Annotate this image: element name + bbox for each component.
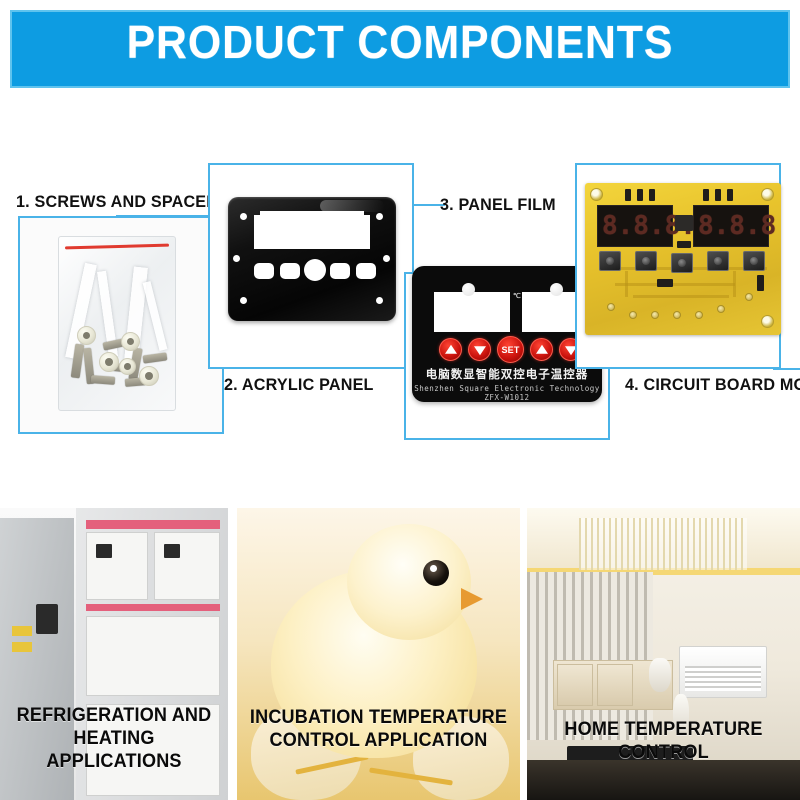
header-pin	[649, 189, 655, 201]
chick-beak	[461, 588, 483, 610]
solder-pad	[745, 293, 753, 301]
panel-film-photo: ℃ ℃ SET 电脑数显智能双控电子温控器 Shenzhen Square El…	[412, 266, 602, 402]
solder-pad	[673, 311, 681, 319]
component-label-circuit-board-module: 4. CIRCUIT BOARD MODULE	[625, 375, 800, 395]
header-pin	[715, 189, 721, 201]
page-title: PRODUCT COMPONENTS	[127, 18, 674, 66]
screw-hole-2	[376, 213, 383, 220]
air-conditioner	[679, 646, 767, 698]
header-pin	[637, 189, 643, 201]
header-banner: PRODUCT COMPONENTS	[10, 10, 790, 88]
application-photo-home: HOME TEMPERATURE CONTROL	[527, 508, 800, 800]
component-label-panel-film: 3. PANEL FILM	[440, 195, 556, 215]
pcb-trace	[615, 283, 735, 286]
up-arrow-button-right[interactable]	[530, 338, 553, 361]
solder-pad	[629, 311, 637, 319]
brand-text-english: Shenzhen Square Electronic Technology ZF…	[412, 384, 602, 402]
mount-hole-2	[761, 188, 774, 201]
acrylic-panel-photo	[228, 197, 396, 321]
components-diagram: 1. SCREWS AND SPACERS 2. ACRYLIC PANEL	[0, 92, 800, 492]
header-pin	[727, 189, 733, 201]
button-cutout-2	[280, 263, 300, 279]
display-cutout-notch	[260, 211, 364, 217]
button-cutout-1	[254, 263, 274, 279]
application-caption-incubation: INCUBATION TEMPERATURE CONTROL APPLICATI…	[244, 706, 513, 752]
tactile-button-4[interactable]	[707, 251, 729, 271]
resistor	[657, 279, 673, 287]
pcb-trace	[625, 271, 628, 297]
ic-chip	[675, 215, 693, 231]
tactile-button-1[interactable]	[599, 251, 621, 271]
application-caption-home: HOME TEMPERATURE CONTROL	[534, 718, 793, 764]
brand-text-chinese: 电脑数显智能双控电子温控器	[412, 366, 602, 382]
tactile-button-5[interactable]	[743, 251, 765, 271]
application-photo-refrigeration: REFRIGERATION AND HEATING APPLICATIONS	[0, 508, 228, 800]
header-pin	[625, 189, 631, 201]
component-box-circuit-board-module: 8.8.8. 8.8.8.	[575, 163, 781, 369]
display-window-left	[434, 292, 510, 332]
screw-hole-6	[376, 297, 383, 304]
pcb-trace	[733, 271, 736, 297]
screws-bag-photo	[58, 236, 176, 411]
screw-hole-1	[240, 213, 247, 220]
diode	[757, 275, 764, 291]
capacitor	[677, 241, 691, 248]
pcb-trace	[633, 295, 729, 298]
component-box-acrylic-panel	[208, 163, 414, 369]
button-cutout-4	[330, 263, 350, 279]
solder-pad	[695, 311, 703, 319]
solder-pad	[651, 311, 659, 319]
curtain	[527, 572, 653, 740]
solder-pad	[717, 305, 725, 313]
seven-segment-display-right: 8.8.8.	[693, 205, 769, 247]
screw-hole-4	[383, 255, 390, 262]
tactile-button-3[interactable]	[671, 253, 693, 273]
application-photo-incubation: INCUBATION TEMPERATURE CONTROL APPLICATI…	[237, 508, 520, 800]
unit-label-left: ℃	[513, 292, 521, 300]
up-arrow-icon	[536, 344, 548, 353]
header-pin	[703, 189, 709, 201]
down-arrow-button-left[interactable]	[468, 338, 491, 361]
screw-hole-3	[233, 255, 240, 262]
set-button[interactable]: SET	[497, 336, 524, 363]
display-digits-right: 8.8.8.	[698, 213, 781, 239]
screw-hole-5	[240, 297, 247, 304]
screws-and-spacers-contents	[69, 318, 167, 396]
display-cutout	[254, 215, 370, 249]
application-caption-refrigeration: REFRIGERATION AND HEATING APPLICATIONS	[6, 704, 223, 773]
seven-segment-display-left: 8.8.8.	[597, 205, 673, 247]
component-label-screws-and-spacers: 1. SCREWS AND SPACERS	[16, 192, 229, 212]
button-cutout-5	[356, 263, 376, 279]
up-arrow-button-left[interactable]	[439, 338, 462, 361]
chick-incubation-scene	[237, 508, 520, 800]
tactile-button-2[interactable]	[635, 251, 657, 271]
product-components-infographic: PRODUCT COMPONENTS	[0, 0, 800, 800]
led-indicator-right	[550, 283, 563, 296]
solder-pad	[607, 303, 615, 311]
component-label-acrylic-panel: 2. ACRYLIC PANEL	[224, 375, 374, 395]
mount-hole-1	[590, 188, 603, 201]
button-cutout-3	[304, 259, 326, 281]
chick-eye	[423, 560, 449, 586]
application-photos: REFRIGERATION AND HEATING APPLICATIONS I…	[0, 508, 800, 800]
circuit-board-photo: 8.8.8. 8.8.8.	[585, 183, 781, 335]
mount-hole-3	[761, 315, 774, 328]
down-arrow-icon	[474, 346, 486, 355]
component-box-screws-and-spacers	[18, 216, 224, 434]
led-indicator-left	[462, 283, 475, 296]
chandelier	[579, 518, 747, 570]
up-arrow-icon	[445, 344, 457, 353]
